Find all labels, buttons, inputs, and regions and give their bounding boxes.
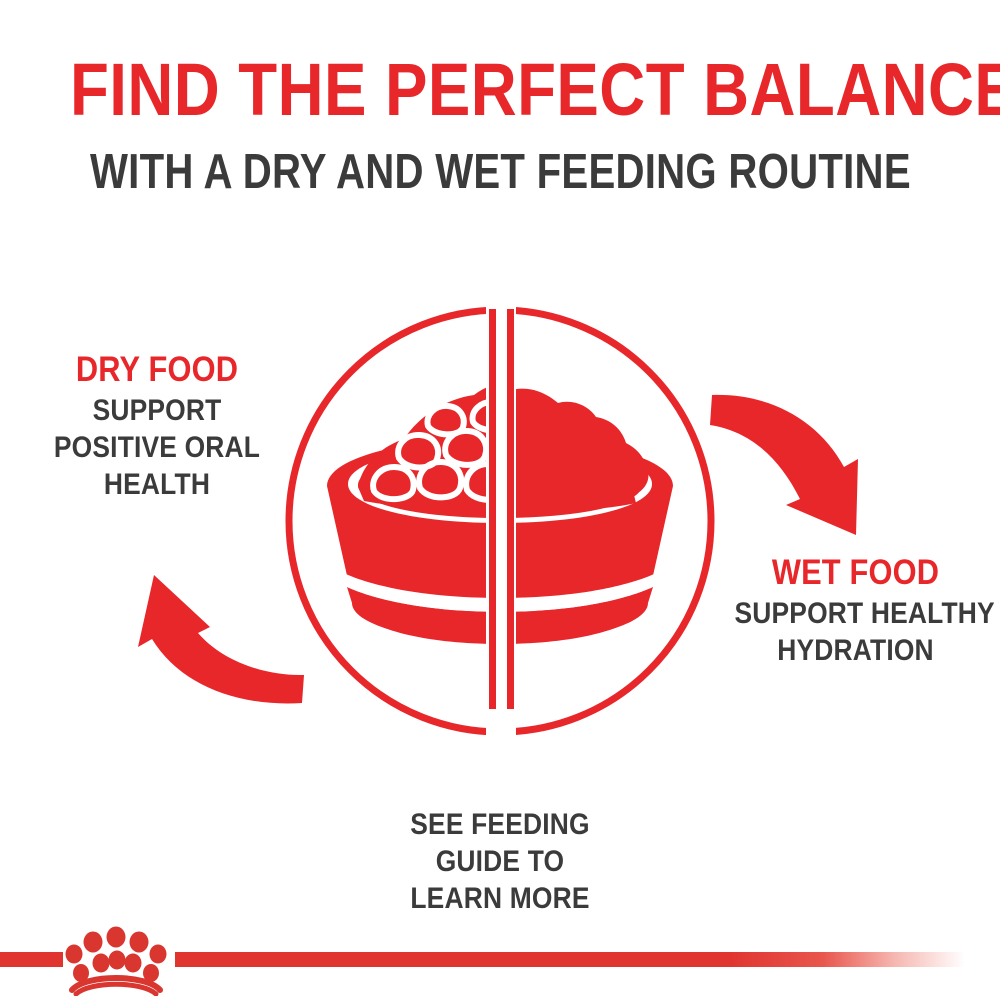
- wet-food-fill: [508, 389, 648, 511]
- wet-food-line-1: SUPPORT HEALTHY: [735, 595, 977, 632]
- page-title: FIND THE PERFECT BALANCE: [70, 52, 930, 128]
- curved-arrow-down-right-icon: [706, 385, 896, 560]
- dry-food-line-1: SUPPORT: [38, 392, 276, 429]
- caption-line-1: SEE FEEDING: [324, 806, 676, 843]
- dry-food-description: SUPPORT POSITIVE ORAL HEALTH: [38, 392, 276, 503]
- feeding-bowl-illustration: [270, 295, 730, 750]
- split-pet-food-bowl-icon: [270, 295, 730, 750]
- wet-food-description: SUPPORT HEALTHY HYDRATION: [735, 595, 977, 669]
- bowl-group: [327, 295, 673, 750]
- header-block: FIND THE PERFECT BALANCE WITH A DRY AND …: [0, 52, 1000, 198]
- footer-red-rule-right: [175, 952, 965, 967]
- dry-food-line-3: HEALTH: [38, 466, 276, 503]
- infographic-poster: FIND THE PERFECT BALANCE WITH A DRY AND …: [0, 0, 1000, 1000]
- royal-canin-crown-logo: [56, 918, 176, 996]
- footer-red-rule-left: [0, 952, 63, 967]
- crown-icon: [56, 918, 176, 996]
- wet-food-line-2: HYDRATION: [735, 632, 977, 669]
- feeding-guide-caption: SEE FEEDING GUIDE TO LEARN MORE: [300, 806, 700, 917]
- dry-food-line-2: POSITIVE ORAL: [38, 429, 276, 466]
- caption-line-2: GUIDE TO: [324, 843, 676, 880]
- dry-food-title: DRY FOOD: [38, 350, 276, 390]
- wet-food-label: WET FOOD SUPPORT HEALTHY HYDRATION: [718, 553, 993, 669]
- dry-food-label: DRY FOOD SUPPORT POSITIVE ORAL HEALTH: [22, 350, 292, 503]
- page-subtitle: WITH A DRY AND WET FEEDING ROUTINE: [90, 146, 910, 198]
